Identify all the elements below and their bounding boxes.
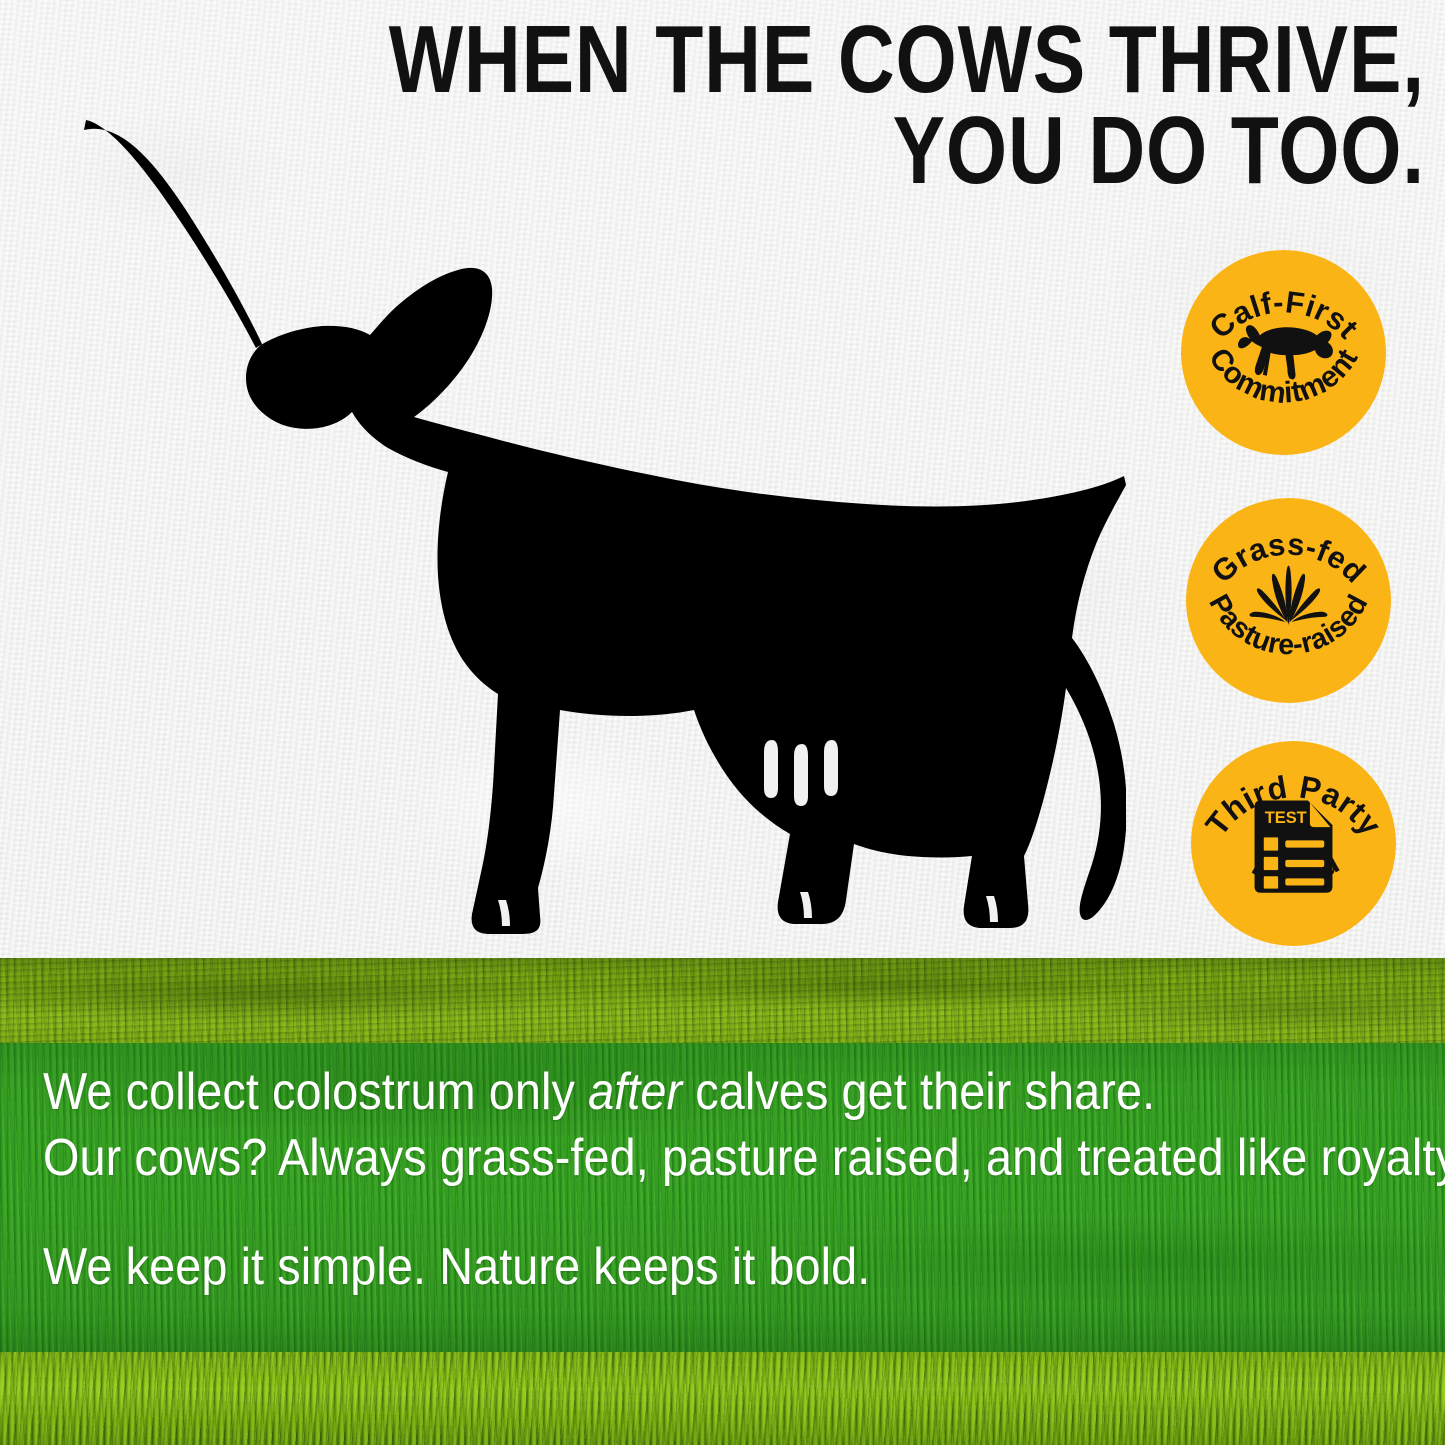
copy-line-3: We keep it simple. Nature keeps it bold.	[43, 1235, 1294, 1301]
copy-line-1: We collect colostrum only after calves g…	[43, 1060, 1294, 1126]
copy-line-1-part-2: calves get their share.	[682, 1063, 1155, 1121]
copy-emphasis-after: after	[588, 1063, 682, 1121]
grass-field-far-shading	[0, 958, 1445, 1048]
body-copy: We collect colostrum only after calves g…	[43, 1060, 1294, 1301]
test-document-label: TEST	[1265, 809, 1307, 827]
badge-third-party-tested[interactable]: Third Party Tested TEST	[1191, 741, 1396, 946]
badge-calf-first-commitment[interactable]: Calf-First Commitment	[1181, 250, 1386, 455]
grass-field-far	[0, 958, 1445, 1048]
poster-canvas: WHEN THE COWS THRIVE, YOU DO TOO. Calf-F…	[0, 0, 1445, 1445]
cow-silhouette-icon	[66, 104, 1126, 934]
copy-line-1-part-1: We collect colostrum only	[43, 1063, 588, 1121]
copy-spacer	[43, 1191, 1294, 1235]
grass-field-near	[0, 1352, 1445, 1445]
badge-grass-fed-pasture-raised[interactable]: Grass-fed Pasture-raised	[1186, 498, 1391, 703]
test-document-icon: TEST	[1255, 800, 1333, 892]
hoof-split-notches	[498, 892, 998, 926]
copy-line-2: Our cows? Always grass-fed, pasture rais…	[43, 1126, 1294, 1192]
